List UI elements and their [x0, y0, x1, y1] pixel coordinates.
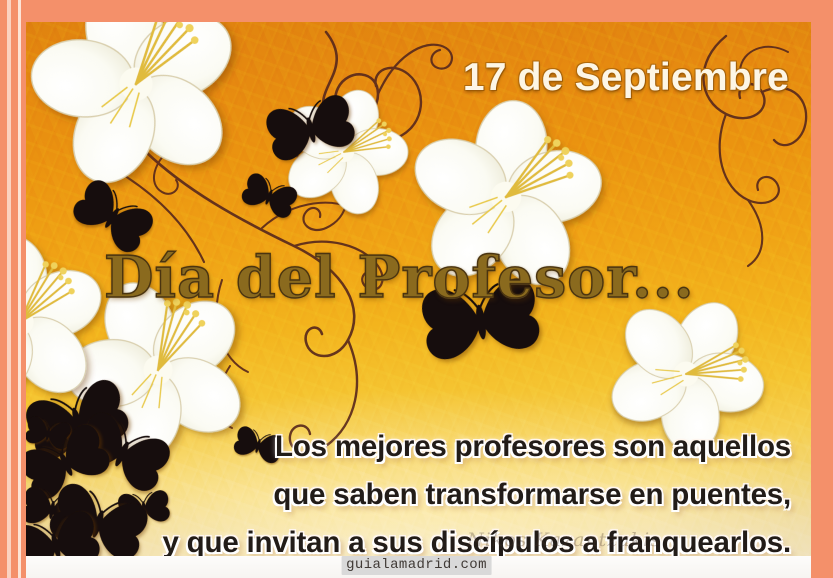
page-title: Día del Profesor... — [104, 244, 695, 311]
poster-image: 17 de Septiembre Día del Profesor... Los… — [26, 22, 811, 557]
frame-inner-line-inner — [18, 0, 21, 578]
date-heading: 17 de Septiembre — [463, 56, 789, 100]
hibiscus-top-left — [26, 22, 268, 212]
quote-line-2: que saben transformarse en puentes, — [273, 478, 791, 512]
frame-inner-line-outer — [7, 0, 11, 578]
watermark-label: guialamadrid.com — [341, 556, 492, 575]
poster-card: 17 de Septiembre Día del Profesor... Los… — [0, 0, 833, 578]
quote-attribution-signature: Nikos Kazantzakis — [467, 529, 661, 551]
quote-line-1: Los mejores profesores son aquellos — [275, 430, 791, 464]
